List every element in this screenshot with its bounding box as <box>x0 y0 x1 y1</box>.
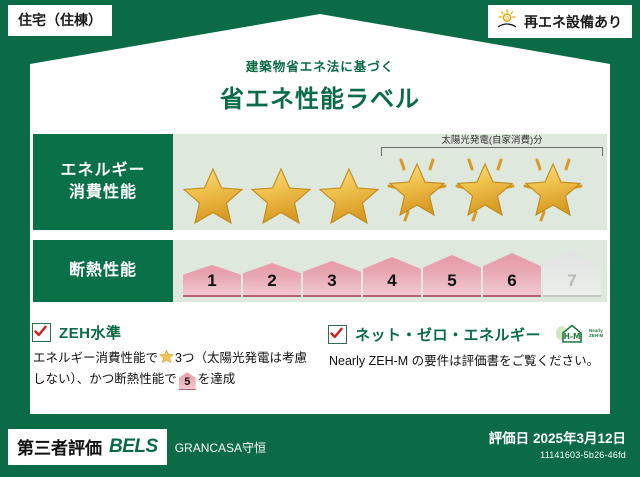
net-zero-energy-title: ネット・ゼロ・エネルギー <box>355 324 541 345</box>
grade-number: 4 <box>387 272 396 293</box>
grade-badge-2: 2 <box>243 263 301 297</box>
title-subtitle: 建築物省エネ法に基づく <box>0 56 640 75</box>
house-type-badge: 住宅（住棟） <box>8 5 112 36</box>
insulation-label-text: 断熱性能 <box>69 260 137 282</box>
net-zero-energy-header: ネット・ゼロ・エネルギー H-M Nearly ZEH-M <box>328 322 608 346</box>
inline-grade-badge: 5 <box>179 372 196 390</box>
energy-performance-row: エネルギー 消費性能 太陽光発電(自家消費)分 <box>33 134 607 230</box>
grade-badge-7: 7 <box>543 251 601 297</box>
page-title: 省エネ性能ラベル <box>0 79 640 114</box>
star-icon <box>179 142 247 228</box>
insulation-row-body: 1 2 3 4 5 6 7 <box>173 240 607 302</box>
energy-row-body: 太陽光発電(自家消費)分 <box>173 134 607 230</box>
energy-label-line2: 消費性能 <box>69 182 137 204</box>
footer-right-group: 評価日 2025年3月12日 11141603-5b26-46fd <box>489 427 626 460</box>
third-party-eval-label: 第三者評価 <box>17 434 102 459</box>
star-icon <box>315 142 383 228</box>
zeh-m-caption-line2: ZEH-M <box>589 333 603 338</box>
energy-label-line1: エネルギー <box>60 160 145 182</box>
evaluation-id: 11141603-5b26-46fd <box>489 450 626 460</box>
grade-number: 2 <box>267 272 276 293</box>
evaluation-date: 評価日 2025年3月12日 <box>489 427 626 447</box>
zeh-desc-part1: エネルギー消費性能で <box>33 351 158 365</box>
grade-number: 5 <box>447 272 456 293</box>
grade-badge-4: 4 <box>363 257 421 297</box>
renewable-equipment-label: 再エネ設備あり <box>524 12 622 32</box>
grade-number: 6 <box>507 272 516 293</box>
zeh-desc-part3: を達成 <box>198 372 236 386</box>
star-icon <box>247 142 315 228</box>
grade-badge-1: 1 <box>183 265 241 297</box>
title-block: 建築物省エネ法に基づく 省エネ性能ラベル <box>0 56 640 114</box>
grade-number: 7 <box>567 272 576 293</box>
insulation-row-label: 断熱性能 <box>33 240 173 302</box>
net-zero-energy-description: Nearly ZEH-M の要件は評価書をご覧ください。 <box>329 352 608 371</box>
zeh-standard-section: ZEH水準 エネルギー消費性能で3つ（太陽光発電は考慮しない）、かつ断熱性能で5… <box>32 322 312 390</box>
zeh-standard-description: エネルギー消費性能で3つ（太陽光発電は考慮しない）、かつ断熱性能で5を達成 <box>33 349 312 390</box>
net-zero-energy-section: ネット・ゼロ・エネルギー H-M Nearly ZEH-M Nearly ZEH… <box>328 322 608 390</box>
renewable-equipment-badge: D 再エネ設備あり <box>488 5 632 38</box>
grade-number: 3 <box>327 272 336 293</box>
checkbox-checked-icon <box>328 325 347 344</box>
zeh-m-logo-icon: H-M Nearly ZEH-M <box>553 322 603 346</box>
star-rating <box>173 134 607 230</box>
svg-text:H-M: H-M <box>564 332 581 341</box>
sun-solar-icon: D <box>496 9 518 34</box>
checkbox-checked-icon <box>32 323 51 342</box>
star-solar-icon <box>383 142 451 228</box>
inline-star-icon <box>159 349 174 370</box>
star-solar-icon <box>451 142 519 228</box>
criteria-sections: ZEH水準 エネルギー消費性能で3つ（太陽光発電は考慮しない）、かつ断熱性能で5… <box>32 322 608 390</box>
star-solar-icon <box>519 142 587 228</box>
grade-badge-3: 3 <box>303 261 361 297</box>
grade-badge-5: 5 <box>423 255 481 297</box>
insulation-grade-scale: 1 2 3 4 5 6 7 <box>173 240 607 302</box>
bels-certification-badge: 第三者評価 BELS <box>8 429 167 465</box>
zeh-standard-title: ZEH水準 <box>59 322 122 343</box>
footer-left-group: 第三者評価 BELS GRANCASA守恒 <box>8 429 266 465</box>
bels-logo-text: BELS <box>109 436 158 458</box>
label-footer: 第三者評価 BELS GRANCASA守恒 評価日 2025年3月12日 111… <box>0 415 640 477</box>
building-name: GRANCASA守恒 <box>175 439 266 456</box>
energy-performance-label: 住宅（住棟） D 再エネ設備あり 建築物省エネ法に基づく 省エネ性能ラベル <box>0 0 640 477</box>
insulation-performance-row: 断熱性能 1 2 3 4 5 6 <box>33 240 607 302</box>
zeh-standard-header: ZEH水準 <box>32 322 312 343</box>
grade-badge-6: 6 <box>483 253 541 297</box>
zeh-m-logo-caption: Nearly ZEH-M <box>589 329 603 339</box>
energy-row-label: エネルギー 消費性能 <box>33 134 173 230</box>
grade-number: 1 <box>207 272 216 293</box>
house-type-label: 住宅（住棟） <box>18 12 102 28</box>
svg-text:D: D <box>505 16 509 22</box>
